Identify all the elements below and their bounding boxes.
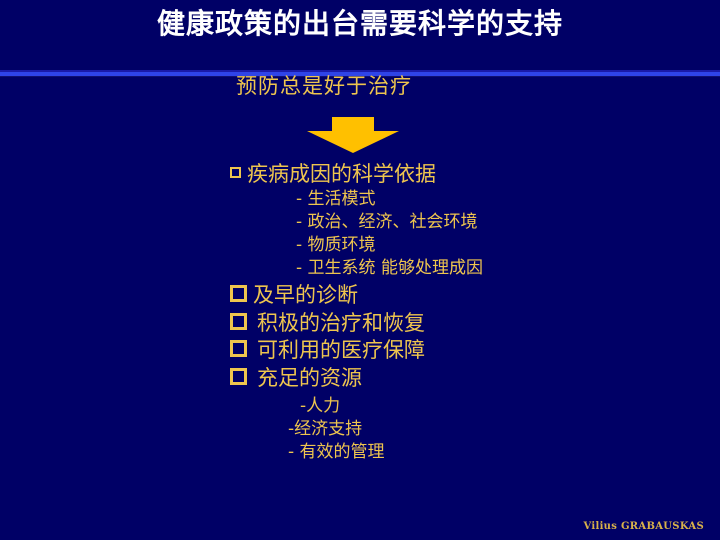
list-item-label: 充足的资源 xyxy=(257,365,362,392)
list-item-label: 积极的治疗和恢复 xyxy=(257,310,425,337)
list-item: 疾病成因的科学依据 xyxy=(0,160,720,188)
slide-title: 健康政策的出台需要科学的支持 xyxy=(0,7,720,41)
list-item: - 卫生系统 能够处理成因 xyxy=(0,257,720,280)
square-bullet-icon xyxy=(230,285,247,302)
list-item: - 政治、经济、社会环境 xyxy=(0,211,720,234)
list-item: 积极的治疗和恢复 xyxy=(0,309,720,337)
list-item: 充足的资源 xyxy=(0,364,720,392)
list-item: 及早的诊断 xyxy=(0,282,720,310)
list-item: - 生活模式 xyxy=(0,188,720,211)
author-signature: Vilius GRABAUSKAS xyxy=(584,521,705,532)
square-bullet-icon xyxy=(230,167,241,178)
slide-canvas: 健康政策的出台需要科学的支持 预防总是好于治疗 疾病成因的科学依据 - 生活模式… xyxy=(0,0,720,540)
list-item: - 物质环境 xyxy=(0,234,720,257)
square-bullet-icon xyxy=(230,340,247,357)
list-item: -人力 xyxy=(0,395,720,418)
square-bullet-icon xyxy=(230,313,247,330)
bullet-list: 疾病成因的科学依据 - 生活模式 - 政治、经济、社会环境 - 物质环境 - 卫… xyxy=(0,160,720,464)
list-item-label: 可利用的医疗保障 xyxy=(257,337,425,364)
list-item: -经济支持 xyxy=(0,418,720,441)
down-arrow-icon xyxy=(307,117,399,153)
list-item: 可利用的医疗保障 xyxy=(0,337,720,365)
list-item-label: 疾病成因的科学依据 xyxy=(247,161,436,188)
list-item: - 有效的管理 xyxy=(0,441,720,464)
list-item-label: 及早的诊断 xyxy=(253,282,358,309)
slide-subtitle: 预防总是好于治疗 xyxy=(236,73,412,99)
square-bullet-icon xyxy=(230,368,247,385)
